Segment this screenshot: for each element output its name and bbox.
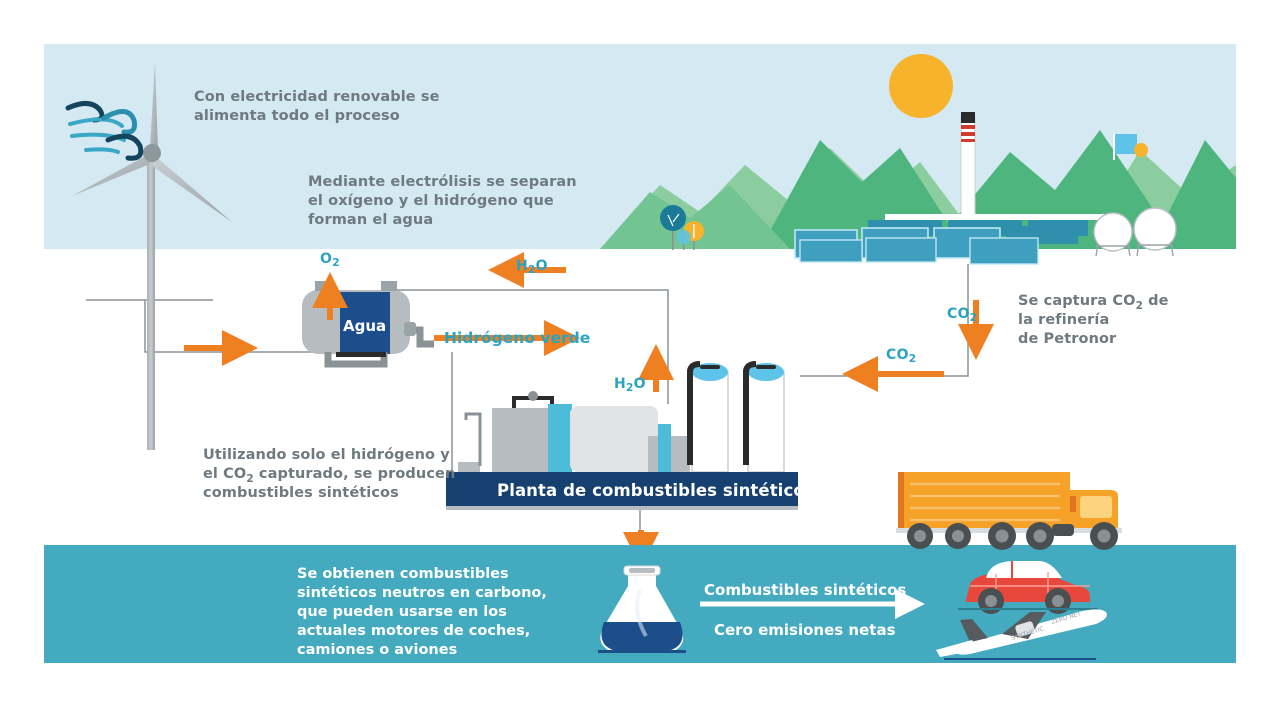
infographic-canvas: SYNTHETIC ZERO NET Con electricidad reno… <box>0 0 1280 720</box>
label-water-tank: Agua <box>343 317 386 335</box>
note-plant-line-3: combustibles sintéticos <box>203 485 399 501</box>
note-electrolysis-line-2: el oxígeno y el hidrógeno que <box>308 193 554 209</box>
label-plant: Planta de combustibles sintéticos <box>497 481 815 500</box>
note-capture-line-1: Se captura CO2 de <box>1018 293 1169 312</box>
note-electrolysis-line-3: forman el agua <box>308 212 433 228</box>
sun-icon <box>889 54 953 118</box>
note-wind-line-2: alimenta todo el proceso <box>194 108 400 124</box>
label-co2-vertical: CO2 <box>947 306 977 324</box>
band-text-line-4: actuales motores de coches, <box>297 623 530 639</box>
flow-label-top: Combustibles sintéticos <box>704 581 906 599</box>
note-capture-line-2: la refinería <box>1018 312 1109 328</box>
note-plant-line-1: Utilizando solo el hidrógeno y <box>203 447 450 463</box>
truck-icon <box>896 472 1122 550</box>
label-o2: O2 <box>320 251 340 269</box>
diagram-svg: SYNTHETIC ZERO NET Con electricidad reno… <box>0 0 1280 720</box>
band-text-line-1: Se obtienen combustibles <box>297 566 509 582</box>
note-wind-line-1: Con electricidad renovable se <box>194 89 440 105</box>
label-h2o-top: H2O <box>516 258 548 276</box>
note-electrolysis-line-1: Mediante electrólisis se separan <box>308 174 577 190</box>
flow-label-bottom: Cero emisiones netas <box>714 621 896 639</box>
band-text-line-5: camiones o aviones <box>297 642 457 658</box>
band-text-line-3: que pueden usarse en los <box>297 604 507 620</box>
label-green-hydrogen: Hidrógeno verde <box>444 329 590 347</box>
band-text-line-2: sintéticos neutros en carbono, <box>297 585 547 601</box>
label-h2o-mid: H2O <box>614 376 646 394</box>
label-co2-horizontal: CO2 <box>886 347 916 365</box>
note-plant-line-2: el CO2 capturado, se producen <box>203 466 455 485</box>
note-capture-line-3: de Petronor <box>1018 331 1117 347</box>
